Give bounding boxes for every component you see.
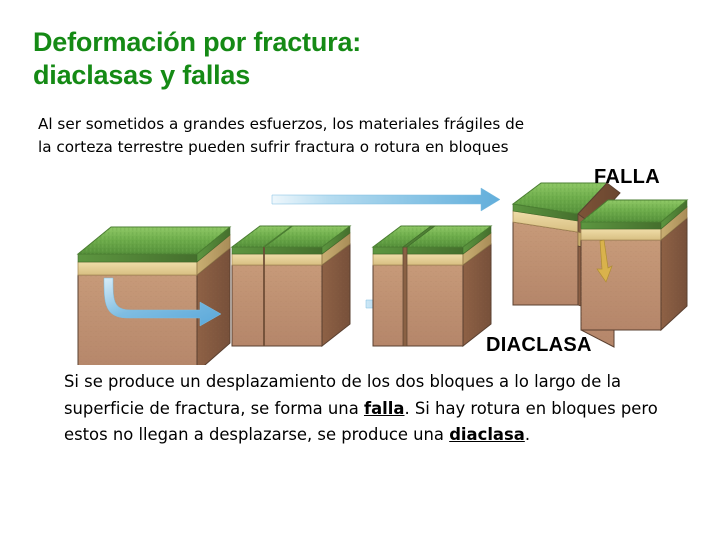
label-diaclasa: DIACLASA: [486, 334, 592, 357]
intro-paragraph: Al ser sometidos a grandes esfuerzos, lo…: [38, 113, 678, 159]
block-diagram-figure: [0, 160, 728, 365]
term-falla: falla: [364, 399, 405, 418]
block-intact: [78, 227, 230, 365]
page-title: Deformación por fractura: diaclasas y fa…: [33, 26, 653, 92]
conclusion-paragraph: Si se produce un desplazamiento de los d…: [64, 369, 664, 449]
block-diaclasa: [373, 226, 491, 346]
arrow-top-long: [272, 188, 500, 211]
conclusion-part-3: .: [525, 425, 530, 444]
term-diaclasa: diaclasa: [449, 425, 525, 444]
slide-canvas: Deformación por fractura: diaclasas y fa…: [0, 0, 728, 546]
label-falla: FALLA: [594, 166, 660, 189]
block-diagram-svg: [0, 160, 728, 365]
block-fractured: [232, 226, 350, 346]
block-falla: [513, 183, 687, 347]
